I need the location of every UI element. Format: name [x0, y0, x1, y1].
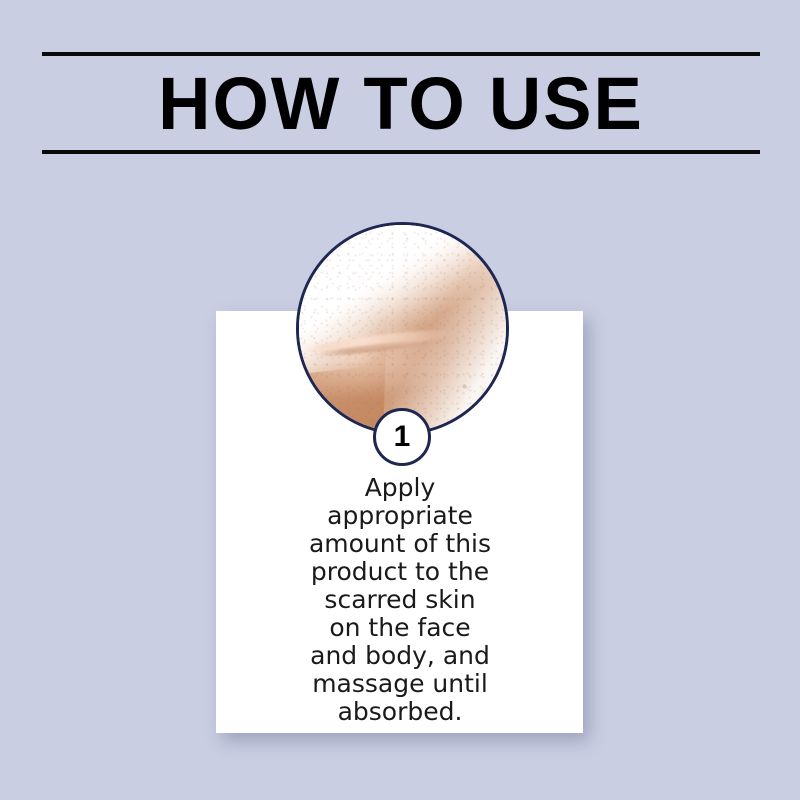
page-title: HOW TO USE — [49, 58, 753, 150]
step-number-badge: 1 — [373, 408, 431, 466]
header-bottom-divider — [42, 150, 760, 154]
skin-scar-closeup-photo — [296, 222, 509, 435]
instruction-line: absorbed. — [240, 698, 560, 726]
instruction-line: on the face — [240, 614, 560, 642]
header-top-divider — [42, 52, 760, 56]
instruction-line: amount of this — [240, 530, 560, 558]
instruction-line: and body, and — [240, 642, 560, 670]
instruction-line: product to the — [240, 558, 560, 586]
instruction-line: appropriate — [240, 502, 560, 530]
header: HOW TO USE — [42, 52, 760, 154]
step-number-label: 1 — [394, 422, 411, 452]
instruction-line: scarred skin — [240, 586, 560, 614]
instruction-line: massage until — [240, 670, 560, 698]
step-instruction-text: Apply appropriate amount of this product… — [240, 474, 560, 726]
photo-skin-texture — [299, 225, 506, 432]
how-to-use-panel: HOW TO USE 1 Apply appropriate amount of… — [0, 0, 800, 800]
instruction-line: Apply — [240, 474, 560, 502]
